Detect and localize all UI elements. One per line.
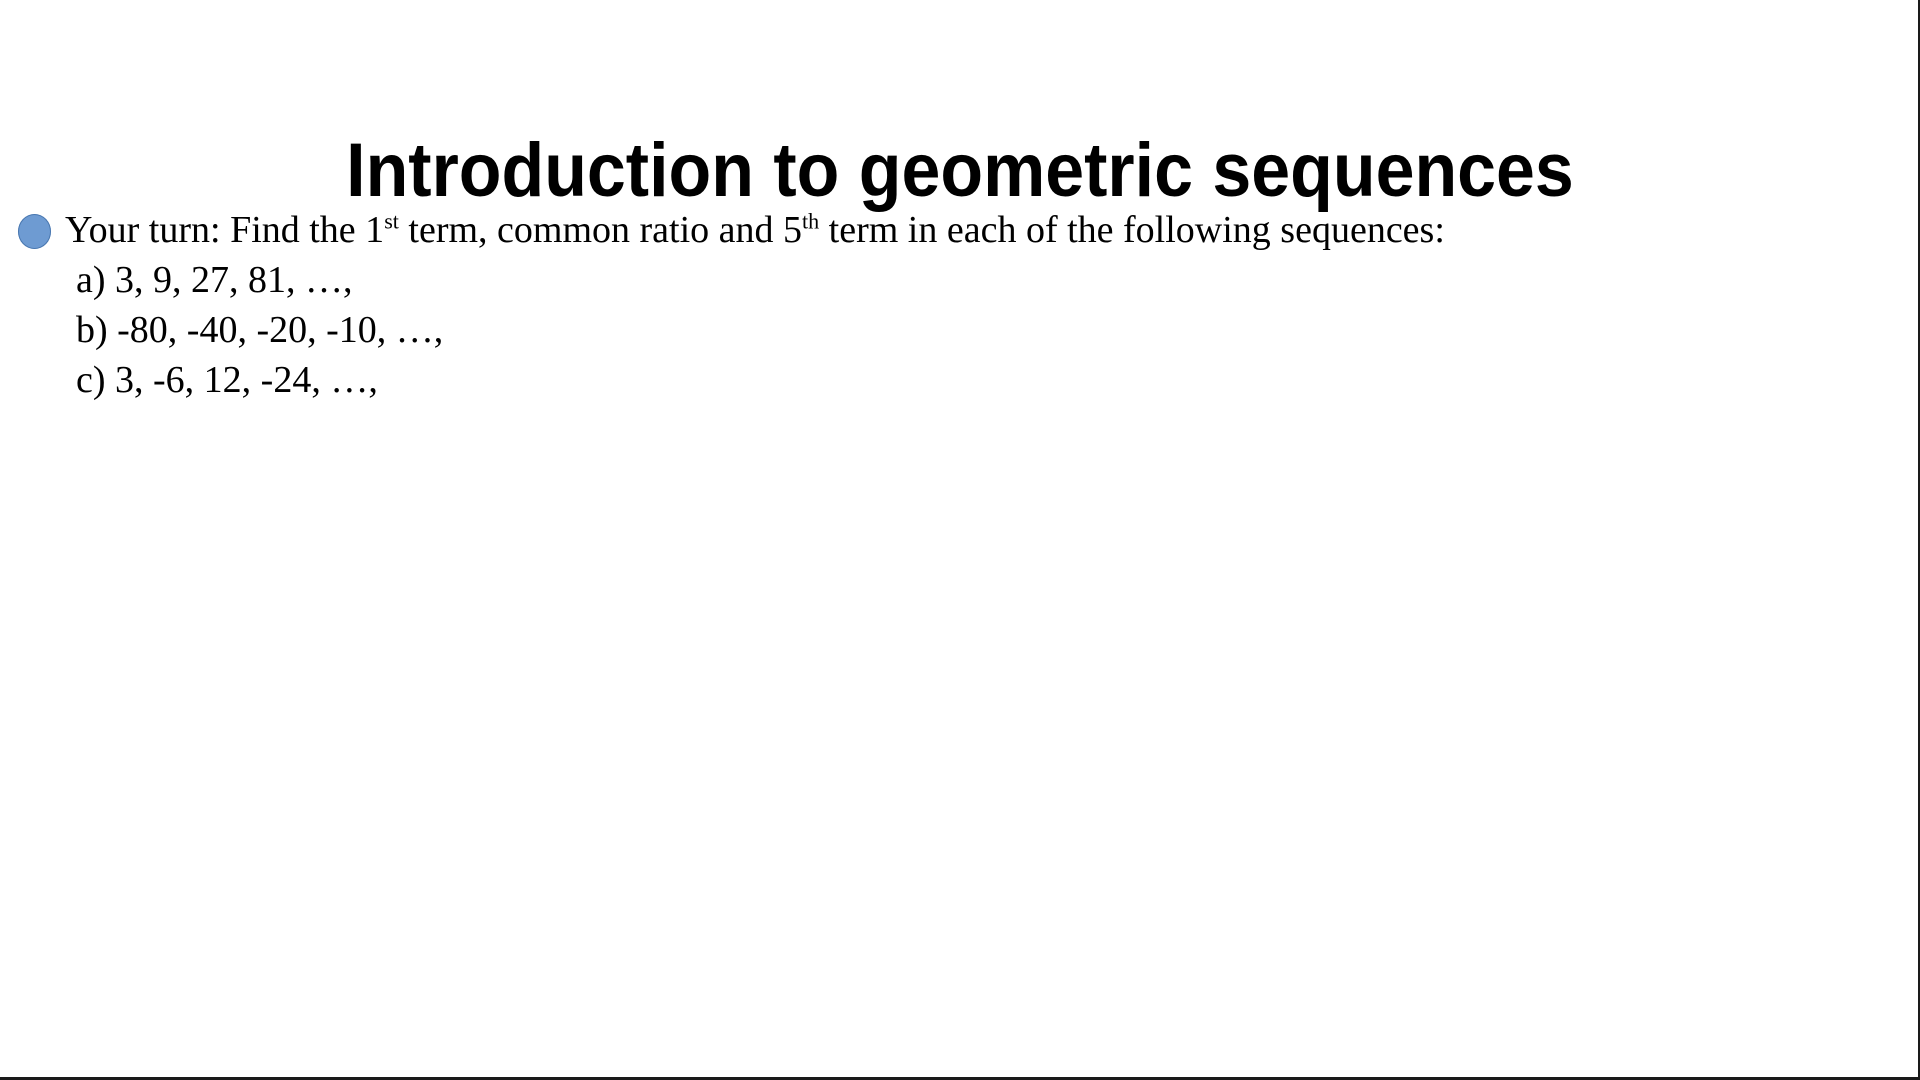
sequence-item-a: a) 3, 9, 27, 81, …, bbox=[18, 255, 1898, 305]
prompt-text-after-fifth: term in each of the following sequences: bbox=[819, 209, 1445, 251]
page-title: Introduction to geometric sequences bbox=[77, 129, 1843, 213]
first-ordinal-suffix: st bbox=[384, 208, 399, 233]
empty-slide-area bbox=[0, 420, 1918, 1070]
prompt-text-middle: term, common ratio and 5 bbox=[399, 209, 802, 251]
filled-circle-bullet-icon bbox=[18, 214, 51, 249]
slide-canvas: Introduction to geometric sequences Your… bbox=[0, 0, 1920, 1080]
prompt-text-before-first-ordinal: Your turn: Find the 1 bbox=[65, 209, 384, 251]
slide-body-content: Your turn: Find the 1st term, common rat… bbox=[18, 205, 1898, 405]
fifth-ordinal-suffix: th bbox=[802, 208, 819, 233]
sequence-item-c: c) 3, -6, 12, -24, …, bbox=[18, 355, 1898, 405]
prompt-text: Your turn: Find the 1st term, common rat… bbox=[18, 205, 1898, 255]
sequence-item-b: b) -80, -40, -20, -10, …, bbox=[18, 305, 1898, 355]
bullet-list-item: Your turn: Find the 1st term, common rat… bbox=[18, 205, 1898, 255]
